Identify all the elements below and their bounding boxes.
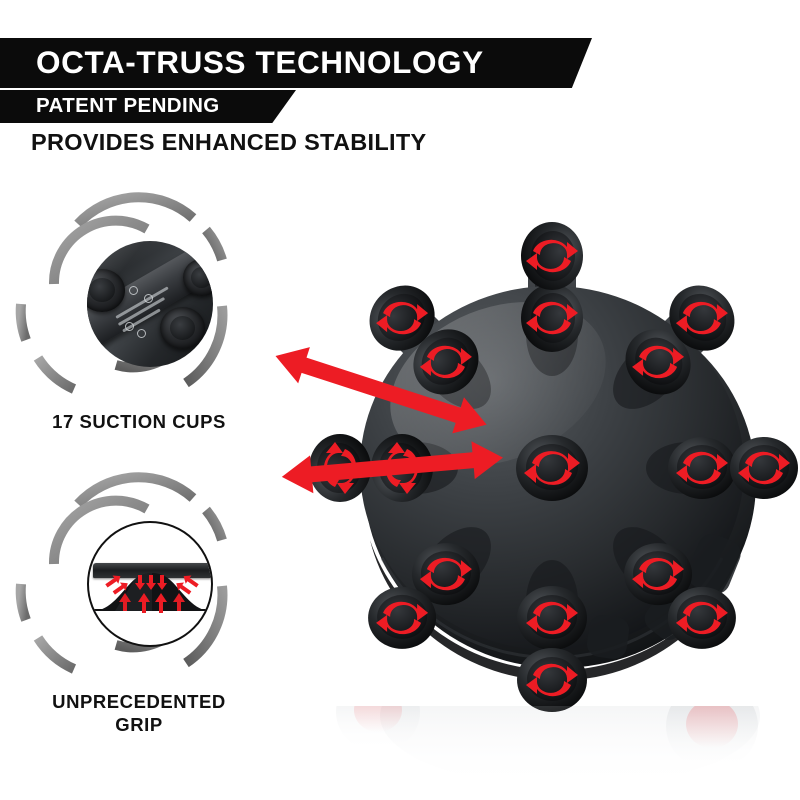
product-image-octa-truss-mount (252, 138, 800, 778)
feature-caption-suction-cups: 17 SUCTION CUPS (8, 410, 270, 433)
suction-cup (521, 222, 583, 290)
suction-cup-highlighted (517, 648, 587, 712)
grip-force-arrows-icon (89, 523, 211, 645)
grip-cross-section-diagram (87, 521, 213, 647)
patent-pending-badge: PATENT PENDING (0, 90, 296, 123)
patent-pending-label: PATENT PENDING (36, 96, 220, 117)
suction-cups-macro-photo (87, 241, 213, 367)
header-title-banner: OCTA-TRUSS TECHNOLOGY (0, 38, 592, 88)
suction-cup (668, 587, 736, 649)
feature-caption-grip-line1: UNPRECEDENTED (8, 690, 270, 713)
infographic-canvas: OCTA-TRUSS TECHNOLOGY PATENT PENDING PRO… (0, 0, 800, 800)
page-title: OCTA-TRUSS TECHNOLOGY (36, 47, 484, 79)
suction-cup (521, 284, 583, 352)
suction-cup (368, 587, 436, 649)
feature-caption-grip: UNPRECEDENTED GRIP (8, 690, 270, 737)
suction-cup (730, 437, 798, 499)
suction-cup-highlighted (517, 586, 587, 650)
feature-caption-grip-line2: GRIP (8, 713, 270, 736)
suction-cup (668, 437, 736, 499)
suction-cup-center (516, 435, 588, 501)
